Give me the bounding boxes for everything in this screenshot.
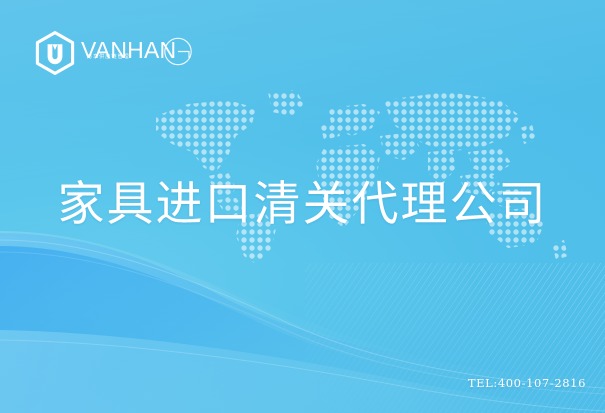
telephone-label: TEL:400-107-2816 bbox=[468, 376, 586, 390]
diagonal-hatch-texture bbox=[305, 263, 605, 413]
logo-subtitle: 万享供应链管理 bbox=[87, 53, 130, 60]
vanhang-hexagon-icon bbox=[33, 31, 77, 75]
dotted-world-map bbox=[128, 84, 576, 266]
page-title: 家具进口清关代理公司 bbox=[0, 176, 605, 234]
promo-banner: VANHAN 万享供应链管理 家具进口清关代理公司 TEL:400-107-28… bbox=[0, 0, 605, 413]
company-logo[interactable]: VANHAN 万享供应链管理 bbox=[33, 30, 193, 76]
